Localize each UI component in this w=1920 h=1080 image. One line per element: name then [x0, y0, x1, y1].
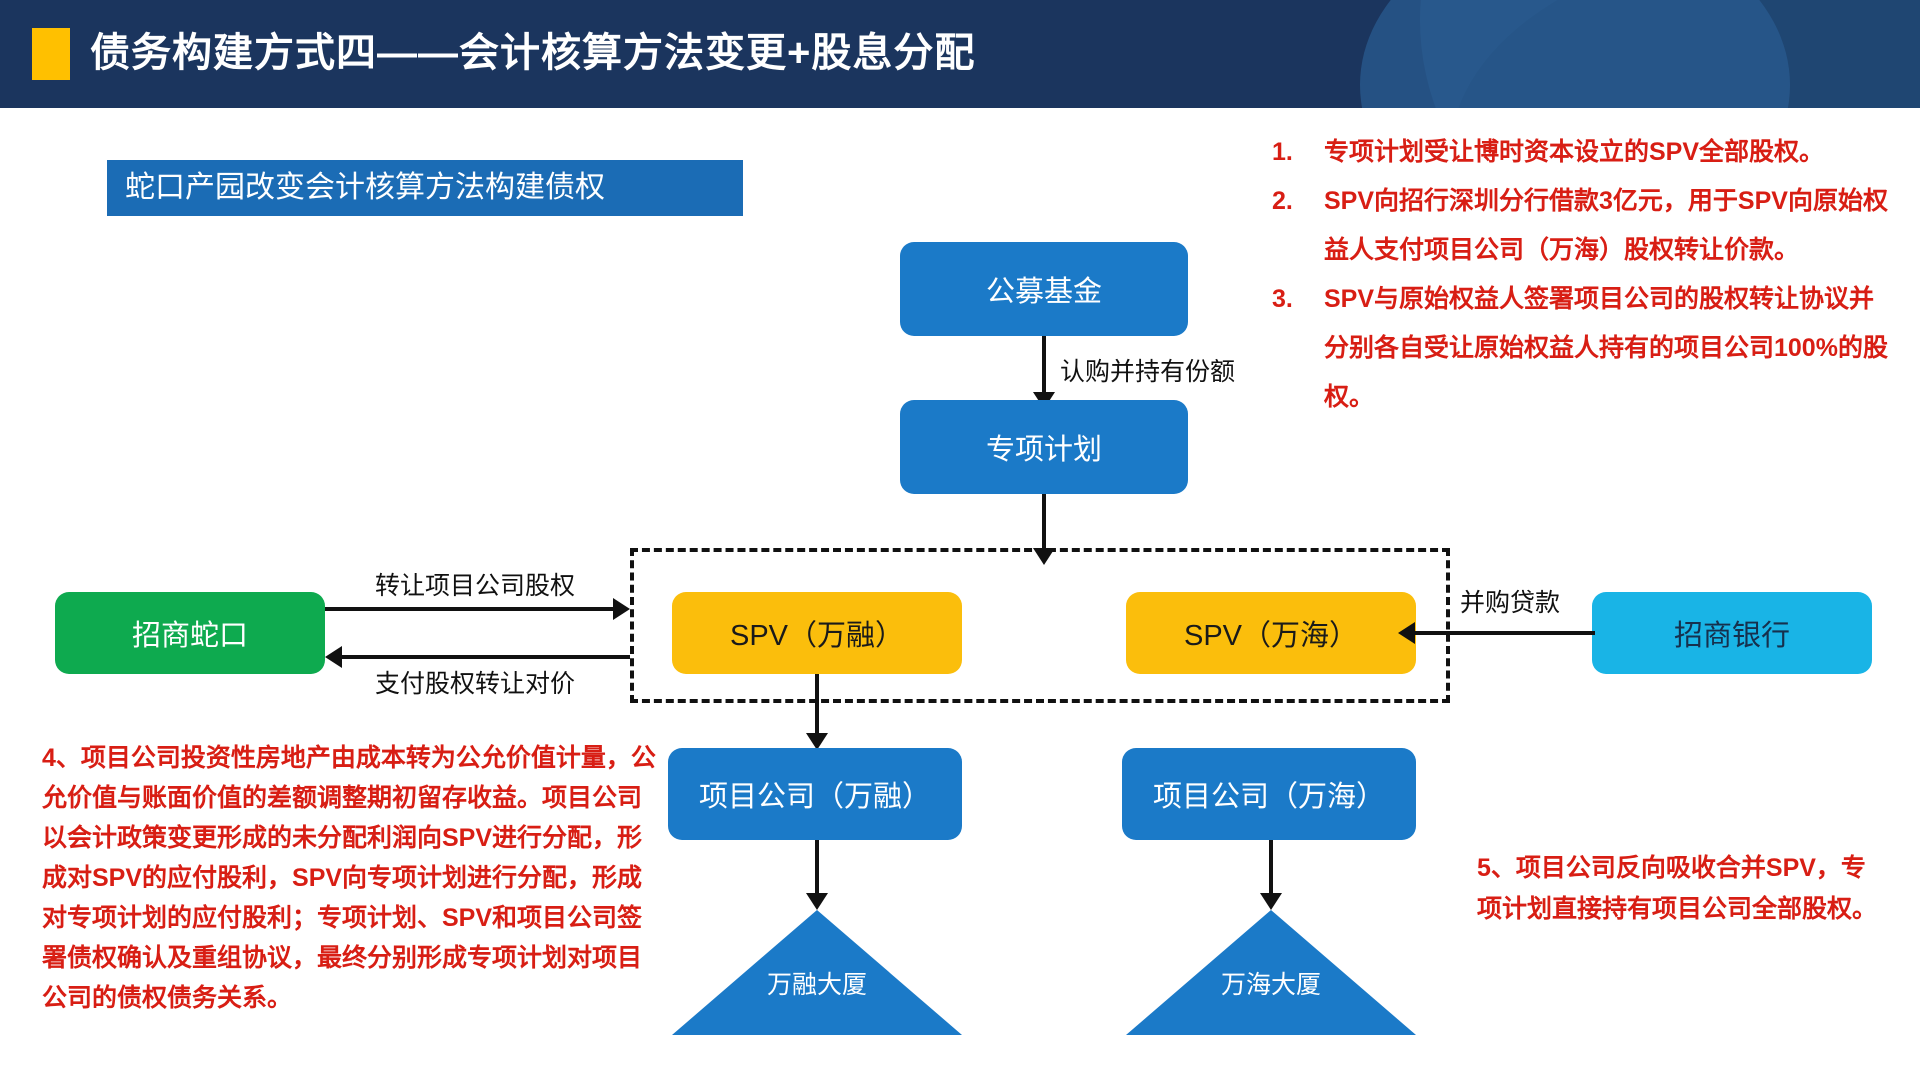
annotation-numbered-list: 1. 专项计划受让博时资本设立的SPV全部股权。 2. SPV向招行深圳分行借款… [1272, 128, 1892, 422]
list-item-text: SPV与原始权益人签署项目公司的股权转让协议并分别各自受让原始权益人持有的项目公… [1324, 285, 1888, 411]
list-item: 3. SPV与原始权益人签署项目公司的股权转让协议并分别各自受让原始权益人持有的… [1272, 275, 1892, 422]
annotation-note-5: 5、项目公司反向吸收合并SPV，专项计划直接持有项目公司全部股权。 [1477, 848, 1877, 930]
connector-pay-consideration [340, 655, 630, 659]
node-project-wanrong[interactable]: 项目公司（万融） [668, 748, 962, 840]
connector-plan-to-spv [1042, 494, 1046, 556]
edge-label-pay-consideration: 支付股权转让对价 [375, 664, 575, 700]
header-accent-square [32, 28, 70, 80]
edge-label-subscribe: 认购并持有份额 [1060, 352, 1235, 388]
node-spv-wanrong[interactable]: SPV（万融） [672, 592, 962, 674]
edge-label-transfer-equity: 转让项目公司股权 [375, 566, 575, 602]
list-item-number: 3. [1272, 275, 1293, 324]
node-spv-wanhai[interactable]: SPV（万海） [1126, 592, 1416, 674]
connector-merger-loan [1410, 631, 1595, 635]
connector-project-wanhai-to-building [1269, 840, 1273, 900]
node-public-fund[interactable]: 公募基金 [900, 242, 1188, 336]
list-item-text: 专项计划受让博时资本设立的SPV全部股权。 [1324, 138, 1824, 166]
arrowhead-project-wanhai-to-building [1260, 893, 1282, 910]
arrowhead-project-wanrong-to-building [806, 893, 828, 910]
label-building-wanrong: 万融大厦 [742, 965, 892, 1001]
slide-canvas: 债务构建方式四——会计核算方法变更+股息分配 蛇口产园改变会计核算方法构建债权 … [0, 0, 1920, 1080]
list-item: 2. SPV向招行深圳分行借款3亿元，用于SPV向原始权益人支付项目公司（万海）… [1272, 177, 1892, 275]
node-project-wanhai[interactable]: 项目公司（万海） [1122, 748, 1416, 840]
list-item-text: SPV向招行深圳分行借款3亿元，用于SPV向原始权益人支付项目公司（万海）股权转… [1324, 187, 1888, 264]
slide-header: 债务构建方式四——会计核算方法变更+股息分配 [0, 0, 1920, 108]
list-item: 1. 专项计划受让博时资本设立的SPV全部股权。 [1272, 128, 1892, 177]
label-building-wanhai: 万海大厦 [1196, 965, 1346, 1001]
edge-label-merger-loan: 并购贷款 [1460, 583, 1560, 619]
connector-fund-to-plan [1042, 336, 1046, 398]
list-item-number: 2. [1272, 177, 1293, 226]
connector-project-wanrong-to-building [815, 840, 819, 900]
subtitle-banner: 蛇口产园改变会计核算方法构建债权 [107, 160, 743, 216]
annotation-note-4: 4、项目公司投资性房地产由成本转为公允价值计量，公允价值与账面价值的差额调整期初… [42, 738, 662, 1018]
connector-spv-wanrong-to-project [815, 674, 819, 740]
node-special-plan[interactable]: 专项计划 [900, 400, 1188, 494]
connector-transfer-equity [325, 607, 615, 611]
arrowhead-merger-loan [1398, 622, 1415, 644]
node-cmsk[interactable]: 招商蛇口 [55, 592, 325, 674]
node-cmb[interactable]: 招商银行 [1592, 592, 1872, 674]
arrowhead-transfer-equity [613, 598, 630, 620]
page-title: 债务构建方式四——会计核算方法变更+股息分配 [90, 18, 975, 88]
list-item-number: 1. [1272, 128, 1293, 177]
header-decor-circle-3 [1360, 0, 1790, 108]
arrowhead-pay-consideration [325, 646, 342, 668]
